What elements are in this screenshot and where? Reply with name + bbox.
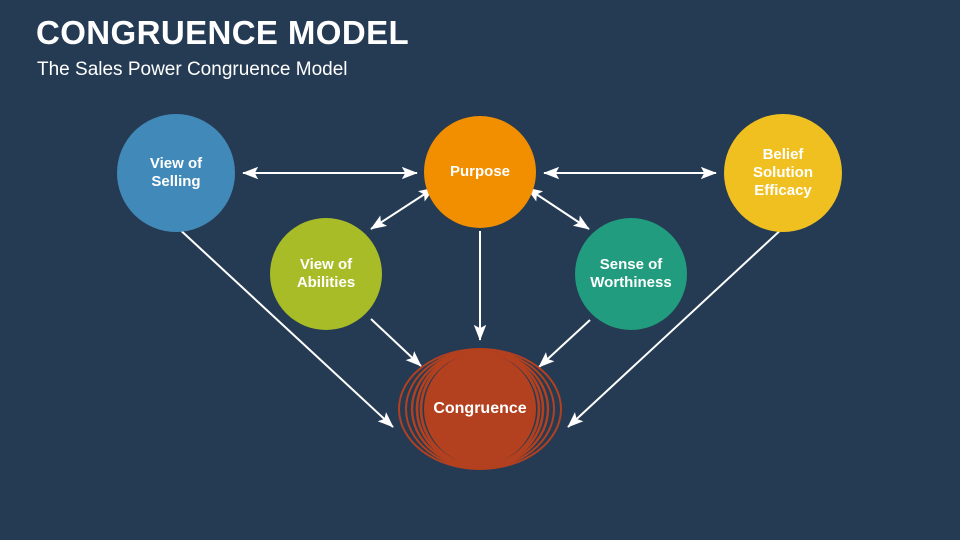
node-view-of-selling-label: View of Selling	[144, 155, 208, 190]
node-sense-of-worthiness-label: Sense of Worthiness	[584, 256, 677, 291]
node-purpose[interactable]: Purpose	[424, 116, 536, 228]
node-belief-solution-efficacy[interactable]: Belief Solution Efficacy	[724, 114, 842, 232]
node-purpose-label: Purpose	[444, 163, 516, 181]
connector-sense-of-worthiness-to-purpose	[527, 188, 589, 229]
node-belief-solution-efficacy-label: Belief Solution Efficacy	[747, 146, 819, 199]
slide-canvas: CONGRUENCE MODEL The Sales Power Congrue…	[0, 0, 960, 540]
connector-view-of-abilities-to-purpose	[371, 188, 434, 229]
node-congruence-label: Congruence	[427, 400, 532, 419]
node-view-of-selling[interactable]: View of Selling	[117, 114, 235, 232]
node-view-of-abilities[interactable]: View of Abilities	[270, 218, 382, 330]
node-view-of-abilities-label: View of Abilities	[291, 256, 361, 291]
node-congruence[interactable]: Congruence	[424, 353, 536, 465]
node-sense-of-worthiness[interactable]: Sense of Worthiness	[575, 218, 687, 330]
